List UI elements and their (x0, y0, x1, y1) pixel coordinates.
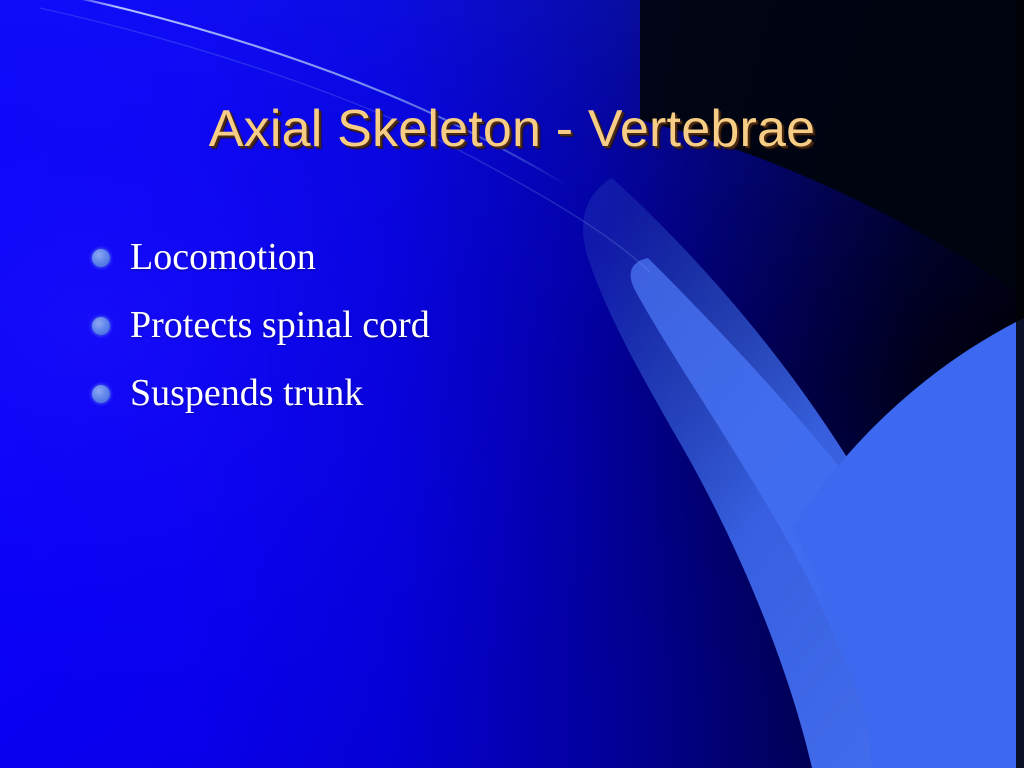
slide-content: Axial Skeleton - Vertebrae Locomotion Pr… (0, 0, 1024, 768)
list-item-label: Protects spinal cord (130, 304, 430, 346)
list-item: Suspends trunk (88, 370, 848, 416)
list-item-label: Locomotion (130, 236, 316, 278)
page-title: Axial Skeleton - Vertebrae (0, 102, 1024, 157)
presentation-slide: Axial Skeleton - Vertebrae Locomotion Pr… (0, 0, 1024, 768)
list-item: Locomotion (88, 234, 848, 280)
list-item-label: Suspends trunk (130, 372, 363, 414)
bullet-list: Locomotion Protects spinal cord Suspends… (88, 234, 848, 438)
list-item: Protects spinal cord (88, 302, 848, 348)
bullet-dot-icon (92, 317, 110, 335)
bullet-dot-icon (92, 249, 110, 267)
bullet-dot-icon (92, 385, 110, 403)
